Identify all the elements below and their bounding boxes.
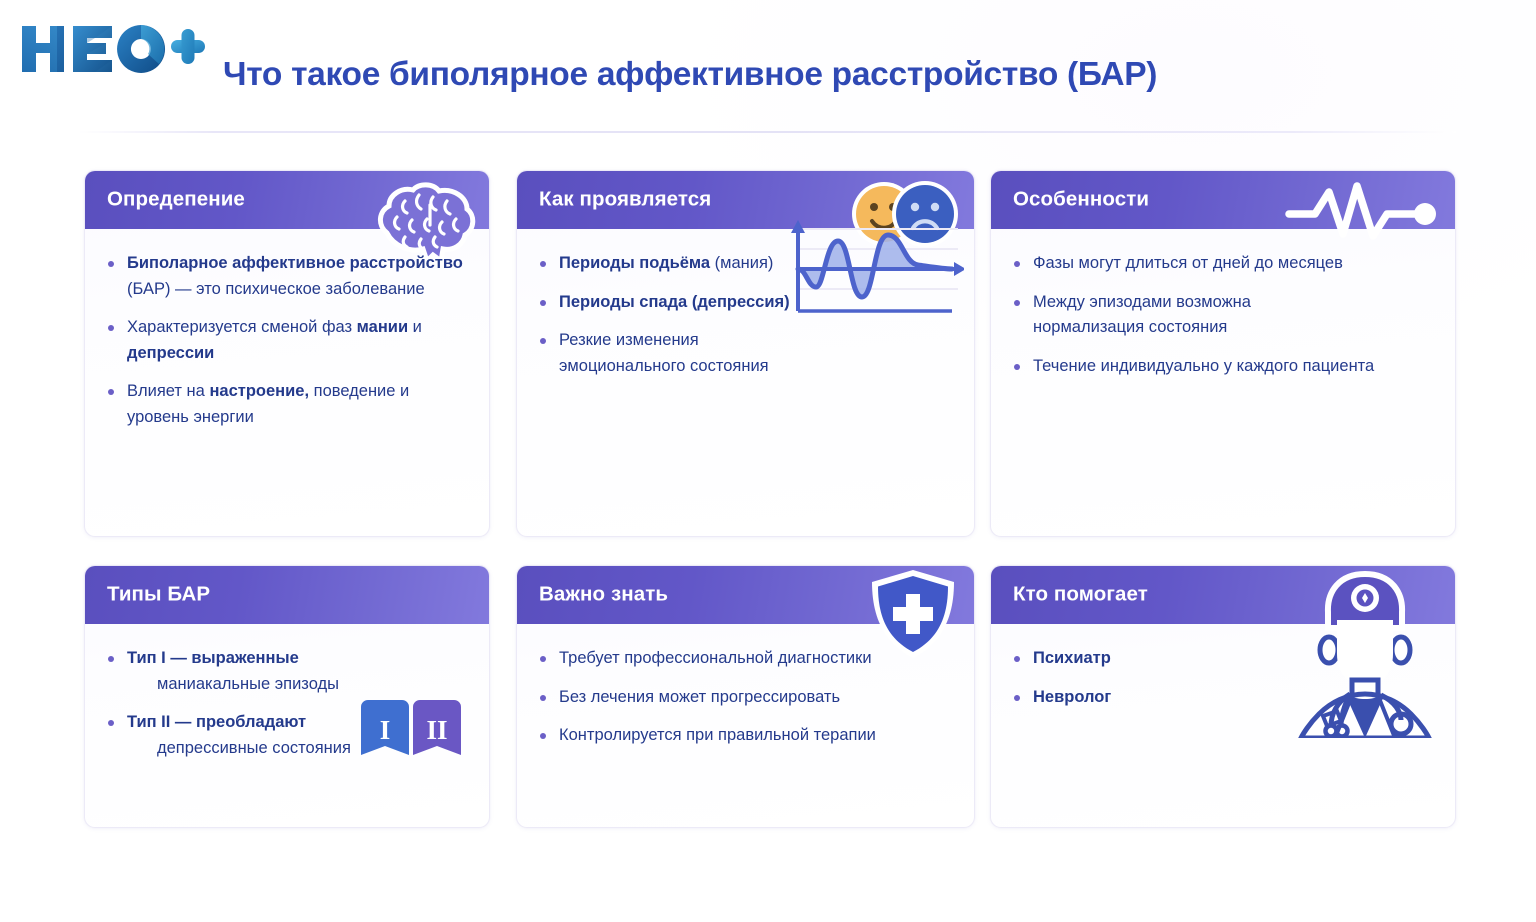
type-badges: I II xyxy=(359,699,463,763)
list-item: Характеризуется сменой фаз мании и депре… xyxy=(105,315,469,366)
card-types-title: Типы БАР xyxy=(107,583,210,607)
bullet-bold-text: депрессии xyxy=(127,344,214,362)
card-definition-title: Опредепение xyxy=(107,188,245,212)
bullet-text: и xyxy=(408,318,422,336)
badge-label-one: I xyxy=(380,715,391,745)
bullet-bold-text: Психиатр xyxy=(1033,649,1111,667)
bullet-text: Без лечения может прогрессировать xyxy=(559,688,840,706)
bullet-subtext: маниакальные эпизоды xyxy=(127,672,469,698)
card-who-helps-title: Кто помогает xyxy=(1013,583,1148,607)
list-item: Без лечения может прогрессировать xyxy=(537,685,954,711)
list-item: Требует профессиональной диагностики xyxy=(537,646,954,672)
card-types[interactable]: Типы БАР Тип I — выраженные маниакальные… xyxy=(84,565,490,828)
bullet-bold-text: Периоды подьёма xyxy=(559,254,710,272)
infographic-page: Что такое биполярное аффективное расстро… xyxy=(0,0,1536,922)
neo-plus-logo xyxy=(17,20,207,78)
bullet-text: Контролируется при правильной терапии xyxy=(559,726,876,744)
card-important-body: Требует профессиональной диагностики Без… xyxy=(517,624,974,765)
card-definition-body: Биполарное аффективное расстройство (БАР… xyxy=(85,229,489,446)
bullet-bold-text: мании xyxy=(357,318,408,336)
card-who-helps-body: Психиатр Невролог xyxy=(991,624,1455,726)
bullet-text: Требует профессиональной диагностики xyxy=(559,649,872,667)
list-item: Невролог xyxy=(1011,685,1435,711)
bullet-bold-text: Тип I — выраженные xyxy=(127,649,299,667)
mood-wave-chart xyxy=(776,215,964,317)
bullet-bold-text: Биполарное аффективное расстройство xyxy=(127,254,463,272)
card-who-helps-header: Кто помогает xyxy=(991,566,1455,624)
card-types-body: Тип I — выраженные маниакальные эпизоды … xyxy=(85,624,489,777)
bullet-text: Характеризуется сменой фаз xyxy=(127,318,357,336)
card-symptoms-body: Периоды подьёма (мания) Периоды спада (д… xyxy=(517,229,974,395)
header-divider xyxy=(78,131,1456,133)
list-item: Резкие изменения эмоционального состояни… xyxy=(537,328,781,379)
list-item: Фазы могут длиться от дней до месяцев xyxy=(1011,251,1435,277)
card-symptoms-title: Как проявляется xyxy=(539,188,711,212)
card-important[interactable]: Важно знать Требует профессиональной диа… xyxy=(516,565,975,828)
bullet-text: (БАР) — это психическое заболевание xyxy=(127,280,425,298)
card-features-title: Особенности xyxy=(1013,188,1149,212)
card-who-helps[interactable]: Кто помогает xyxy=(990,565,1456,828)
definition-bullet-list: Биполарное аффективное расстройство (БАР… xyxy=(105,251,469,430)
card-features[interactable]: Особенности Фазы могут длиться от дней д… xyxy=(990,170,1456,537)
list-item: Между эпизодами возможна нормализация со… xyxy=(1011,290,1311,341)
card-types-header: Типы БАР xyxy=(85,566,489,624)
list-item: Течение индивидуально у каждого пациента xyxy=(1011,354,1435,380)
bullet-bold-text: Невролог xyxy=(1033,688,1111,706)
page-header: Что такое биполярное аффективное расстро… xyxy=(0,0,1536,135)
list-item: Биполарное аффективное расстройство (БАР… xyxy=(105,251,469,302)
bullet-text: Фазы могут длиться от дней до месяцев xyxy=(1033,254,1343,272)
card-important-header: Важно знать xyxy=(517,566,974,624)
bullet-text: Резкие изменения эмоционального состояни… xyxy=(559,331,769,375)
neo-plus-logo-svg xyxy=(17,20,207,78)
list-item: Тип I — выраженные маниакальные эпизоды xyxy=(105,646,469,697)
card-definition-header: Опредепение xyxy=(85,171,489,229)
card-important-title: Важно знать xyxy=(539,583,668,607)
important-bullet-list: Требует профессиональной диагностики Без… xyxy=(537,646,954,749)
who-helps-bullet-list: Психиатр Невролог xyxy=(1011,646,1435,710)
badge-label-two: II xyxy=(426,715,447,745)
bullet-text: Между эпизодами возможна нормализация со… xyxy=(1033,293,1251,337)
features-bullet-list: Фазы могут длиться от дней до месяцев Ме… xyxy=(1011,251,1435,379)
card-features-header: Особенности xyxy=(991,171,1455,229)
list-item: Психиатр xyxy=(1011,646,1435,672)
card-definition[interactable]: Опредепение xyxy=(84,170,490,537)
bullet-bold-text: Тип II — преобладают xyxy=(127,713,306,731)
bullet-bold-text: Периоды спада (депрессия) xyxy=(559,293,790,311)
bullet-text: Течение индивидуально у каждого пациента xyxy=(1033,357,1374,375)
bullet-text: (мания) xyxy=(710,254,773,272)
card-features-body: Фазы могут длиться от дней до месяцев Ме… xyxy=(991,229,1455,395)
bullet-bold-text: настроение, xyxy=(209,382,309,400)
list-item: Влияет на настроение, поведение и уровен… xyxy=(105,379,469,430)
list-item: Контролируется при правильной терапии xyxy=(537,723,954,749)
card-symptoms[interactable]: Как проявляется xyxy=(516,170,975,537)
page-title: Что такое биполярное аффективное расстро… xyxy=(223,56,1157,94)
bullet-text: Влияет на xyxy=(127,382,209,400)
